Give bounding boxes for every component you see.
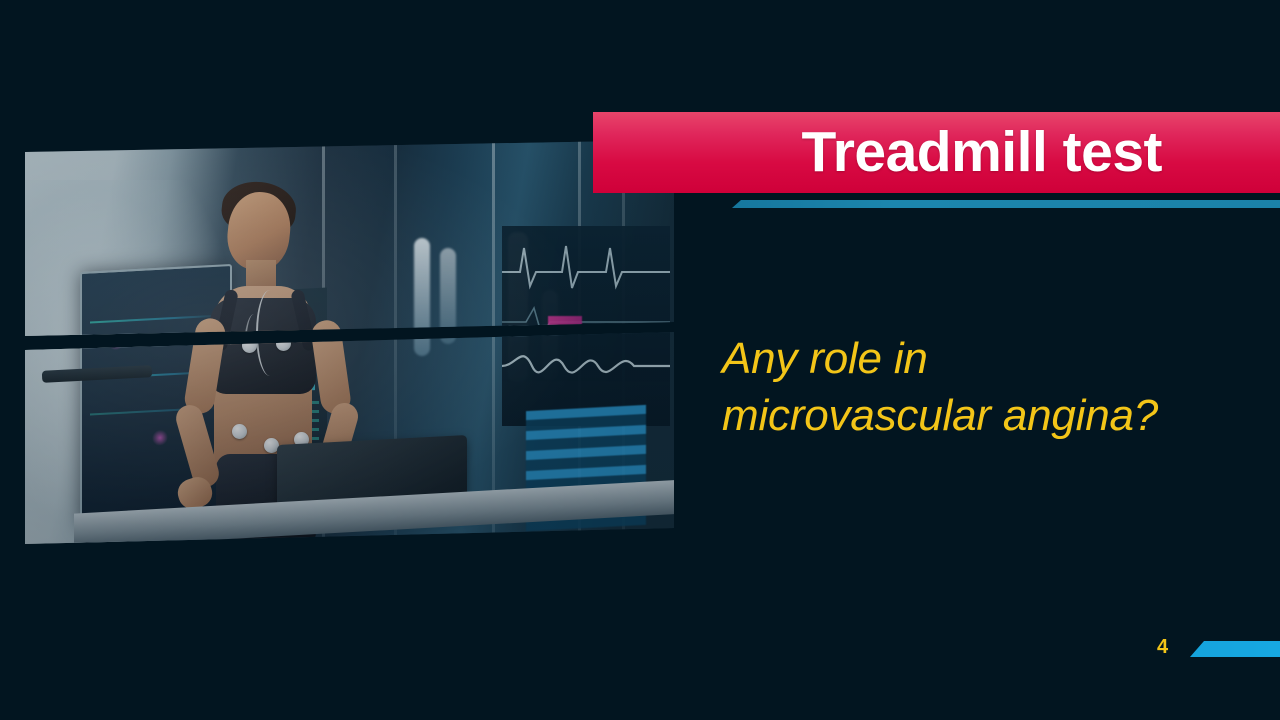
page-number: 4 <box>1157 636 1168 659</box>
runner-figure <box>172 186 382 350</box>
subtitle-line-1: Any role in <box>722 330 1262 387</box>
ecg-monitor-icon <box>502 226 670 350</box>
slide: Treadmill test Any role in microvascular… <box>0 0 1280 720</box>
photo-scene-bottom <box>22 328 674 580</box>
photo-band-top <box>22 140 674 350</box>
treadmill-photo <box>22 140 674 580</box>
subtitle-line-2: microvascular angina? <box>722 387 1262 444</box>
footer-accent-bar <box>1190 641 1280 657</box>
page-title: Treadmill test <box>802 124 1162 181</box>
title-accent-bar <box>732 200 1280 208</box>
subtitle: Any role in microvascular angina? <box>722 330 1262 444</box>
title-banner: Treadmill test <box>593 112 1280 193</box>
photo-band-bottom <box>22 328 674 580</box>
photo-scene-top <box>22 140 674 350</box>
